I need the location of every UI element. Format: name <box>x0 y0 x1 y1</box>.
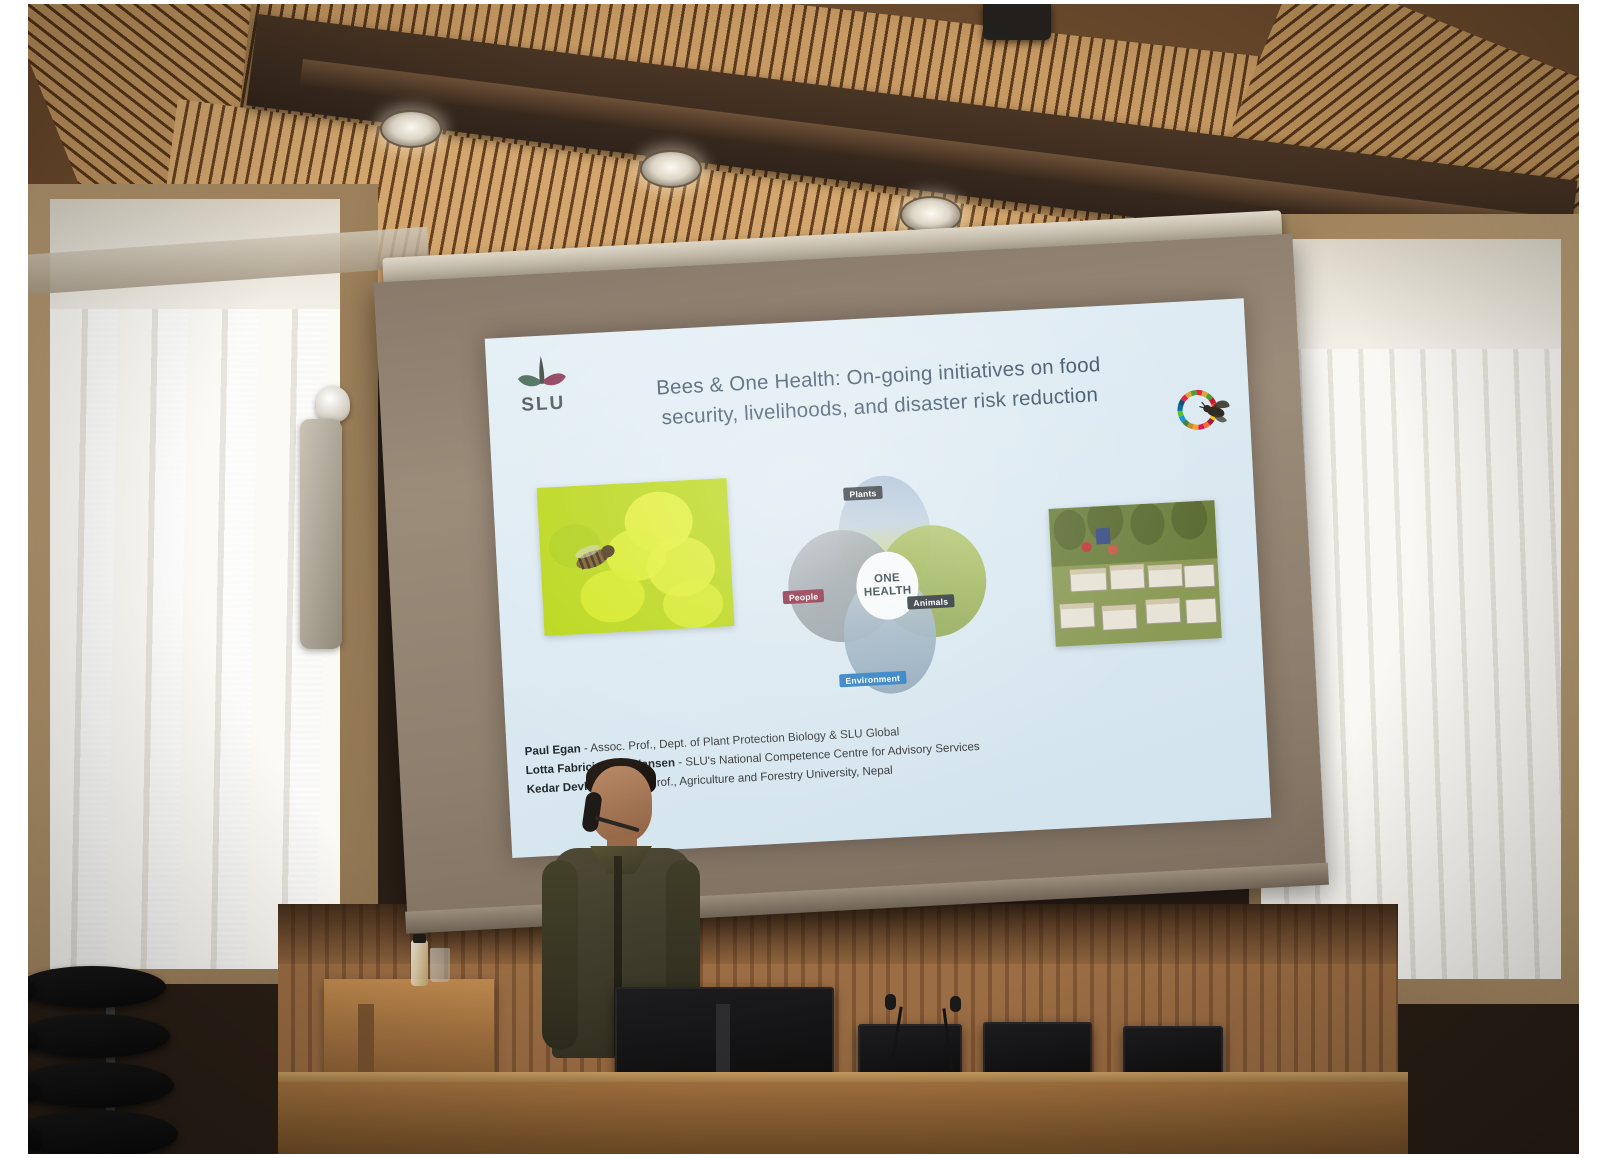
downlight-icon-1 <box>380 110 442 148</box>
one-health-venn-diagram: ONE HEALTH Plants People Animals Environ… <box>781 471 992 699</box>
presenter-arm-left <box>542 860 578 1050</box>
chair-seat <box>28 966 166 1008</box>
chair-seat <box>28 1014 170 1058</box>
microphone-head-icon <box>950 996 961 1012</box>
sdg-wheel-bee-logo <box>1170 377 1235 442</box>
slide-title: Bees & One Health: On-going initiatives … <box>583 346 1175 437</box>
wall-speaker-left <box>300 419 342 649</box>
venn-label-animals: Animals <box>907 594 954 609</box>
venn-center-line-1: ONE <box>874 572 900 585</box>
ceiling-projector-icon <box>983 4 1051 40</box>
venn-label-people: People <box>783 589 825 604</box>
chair-seat <box>28 1062 174 1108</box>
water-bottle-cap <box>413 934 426 943</box>
apiary-beehives-photo <box>1049 500 1222 647</box>
projection-screen: SLU <box>346 203 1341 943</box>
vertical-blind-slats[interactable] <box>50 199 340 969</box>
chair-seat <box>28 1110 178 1154</box>
screen-surface: SLU <box>374 234 1327 932</box>
front-desk <box>278 1082 1408 1154</box>
venn-center-line-2: HEALTH <box>864 584 912 599</box>
drinking-glass <box>430 948 450 982</box>
microphone-head-icon <box>885 994 896 1010</box>
presentation-photograph: SLU <box>28 4 1579 1154</box>
slu-logo-text: SLU <box>510 392 577 417</box>
screenshot-root: SLU <box>0 0 1607 1158</box>
left-window-blinds <box>50 199 340 969</box>
venn-label-plants: Plants <box>843 486 883 501</box>
wall-lamp-icon <box>316 386 350 422</box>
water-bottle <box>411 940 428 986</box>
honeybee-on-rapeseed-photo <box>537 478 735 636</box>
downlight-icon-2 <box>640 150 702 188</box>
lectern-shelf <box>324 979 494 1079</box>
